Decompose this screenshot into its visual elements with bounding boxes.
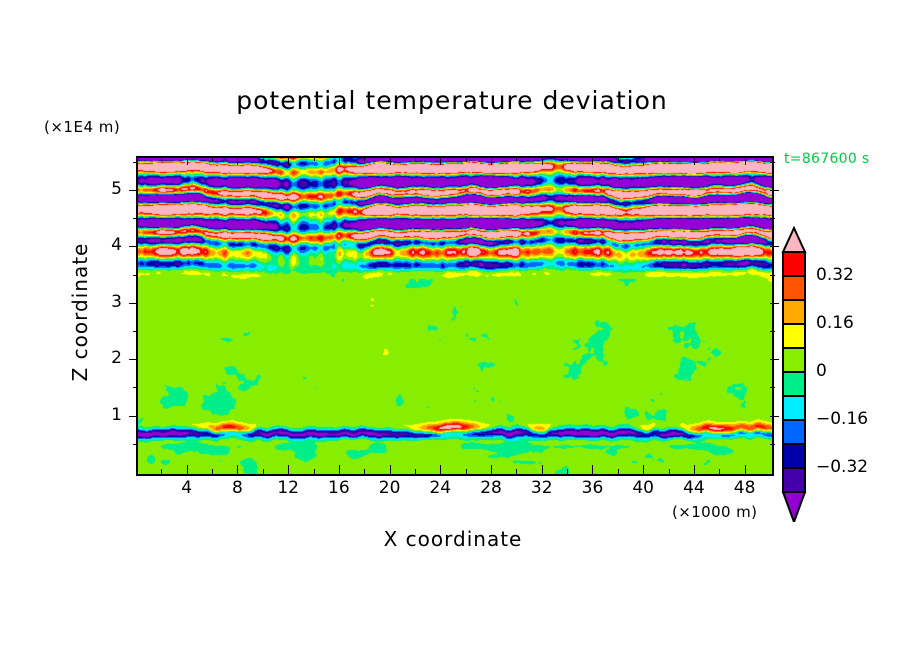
x-tick [440, 465, 441, 474]
y-tick [770, 416, 779, 417]
timestamp-annotation: t=867600 s [784, 151, 869, 167]
x-tick-label: 44 [674, 478, 714, 498]
x-tick [491, 465, 492, 474]
x-tick [314, 469, 315, 474]
x-tick [339, 156, 340, 165]
x-tick [187, 465, 188, 474]
x-unit-label: (×1000 m) [672, 503, 757, 521]
colorbar [779, 226, 809, 522]
x-tick-label: 12 [268, 478, 308, 498]
page-title: potential temperature deviation [0, 86, 904, 115]
x-tick [542, 156, 543, 165]
z-unit-label: (×1E4 m) [44, 118, 120, 136]
x-tick [288, 465, 289, 474]
y-tick [770, 303, 779, 304]
x-tick [161, 469, 162, 474]
x-tick [745, 465, 746, 474]
y-tick [133, 218, 138, 219]
x-tick [567, 156, 568, 161]
x-tick [618, 156, 619, 161]
x-tick-label: 16 [319, 478, 359, 498]
x-tick [516, 469, 517, 474]
colorbar-label: 0.16 [816, 313, 854, 333]
x-tick-label: 36 [572, 478, 612, 498]
x-tick-label: 28 [471, 478, 511, 498]
x-tick [466, 469, 467, 474]
x-tick-label: 4 [167, 478, 207, 498]
x-tick [669, 156, 670, 161]
x-axis-label: X coordinate [136, 527, 770, 551]
y-tick [770, 331, 775, 332]
x-tick-label: 32 [522, 478, 562, 498]
x-tick [237, 465, 238, 474]
contour-plot-area [136, 156, 774, 476]
y-tick [770, 218, 775, 219]
y-axis-label: Z coordinate [68, 212, 92, 412]
y-tick [133, 162, 138, 163]
x-tick [542, 465, 543, 474]
x-tick [643, 156, 644, 165]
x-tick [669, 469, 670, 474]
y-tick [770, 359, 779, 360]
x-tick [339, 465, 340, 474]
y-tick [770, 387, 775, 388]
y-tick [770, 444, 775, 445]
colorbar-swatches [779, 226, 809, 522]
x-tick [643, 465, 644, 474]
x-tick [237, 156, 238, 165]
y-tick [133, 331, 138, 332]
x-tick [719, 469, 720, 474]
x-tick [288, 156, 289, 165]
x-tick [314, 156, 315, 161]
colorbar-label: −0.16 [816, 409, 868, 429]
y-tick [129, 359, 138, 360]
x-tick-label: 20 [370, 478, 410, 498]
x-tick [466, 156, 467, 161]
y-tick [129, 416, 138, 417]
y-tick [770, 246, 779, 247]
x-tick [263, 469, 264, 474]
colorbar-label: −0.32 [816, 457, 868, 477]
x-tick [440, 156, 441, 165]
colorbar-label: 0 [816, 361, 827, 381]
y-tick [129, 246, 138, 247]
x-tick-label: 40 [623, 478, 663, 498]
x-tick [719, 156, 720, 161]
y-tick [770, 190, 779, 191]
x-tick [694, 465, 695, 474]
y-tick [770, 162, 775, 163]
x-tick [415, 156, 416, 161]
x-tick-label: 24 [420, 478, 460, 498]
y-tick [133, 387, 138, 388]
x-tick [516, 156, 517, 161]
y-tick-label: 5 [96, 179, 122, 199]
x-tick [415, 469, 416, 474]
x-tick [390, 465, 391, 474]
contour-field-canvas [138, 158, 772, 474]
y-tick-label: 1 [96, 405, 122, 425]
y-tick-label: 2 [96, 348, 122, 368]
x-tick [491, 156, 492, 165]
x-tick [694, 156, 695, 165]
y-tick-label: 4 [96, 235, 122, 255]
x-tick [592, 465, 593, 474]
x-tick [212, 156, 213, 161]
y-tick [129, 190, 138, 191]
figure-root: potential temperature deviation (×1E4 m)… [0, 0, 904, 654]
y-tick [133, 444, 138, 445]
x-tick [161, 156, 162, 161]
x-tick [745, 156, 746, 165]
x-tick [567, 469, 568, 474]
y-tick [133, 275, 138, 276]
y-tick-label: 3 [96, 292, 122, 312]
x-tick [592, 156, 593, 165]
x-tick-label: 8 [217, 478, 257, 498]
x-tick [263, 156, 264, 161]
x-tick [364, 469, 365, 474]
colorbar-label: 0.32 [816, 265, 854, 285]
x-tick [364, 156, 365, 161]
y-tick [129, 303, 138, 304]
y-tick [770, 275, 775, 276]
x-tick [212, 469, 213, 474]
x-tick [390, 156, 391, 165]
x-tick [187, 156, 188, 165]
x-tick [618, 469, 619, 474]
x-tick-label: 48 [725, 478, 765, 498]
